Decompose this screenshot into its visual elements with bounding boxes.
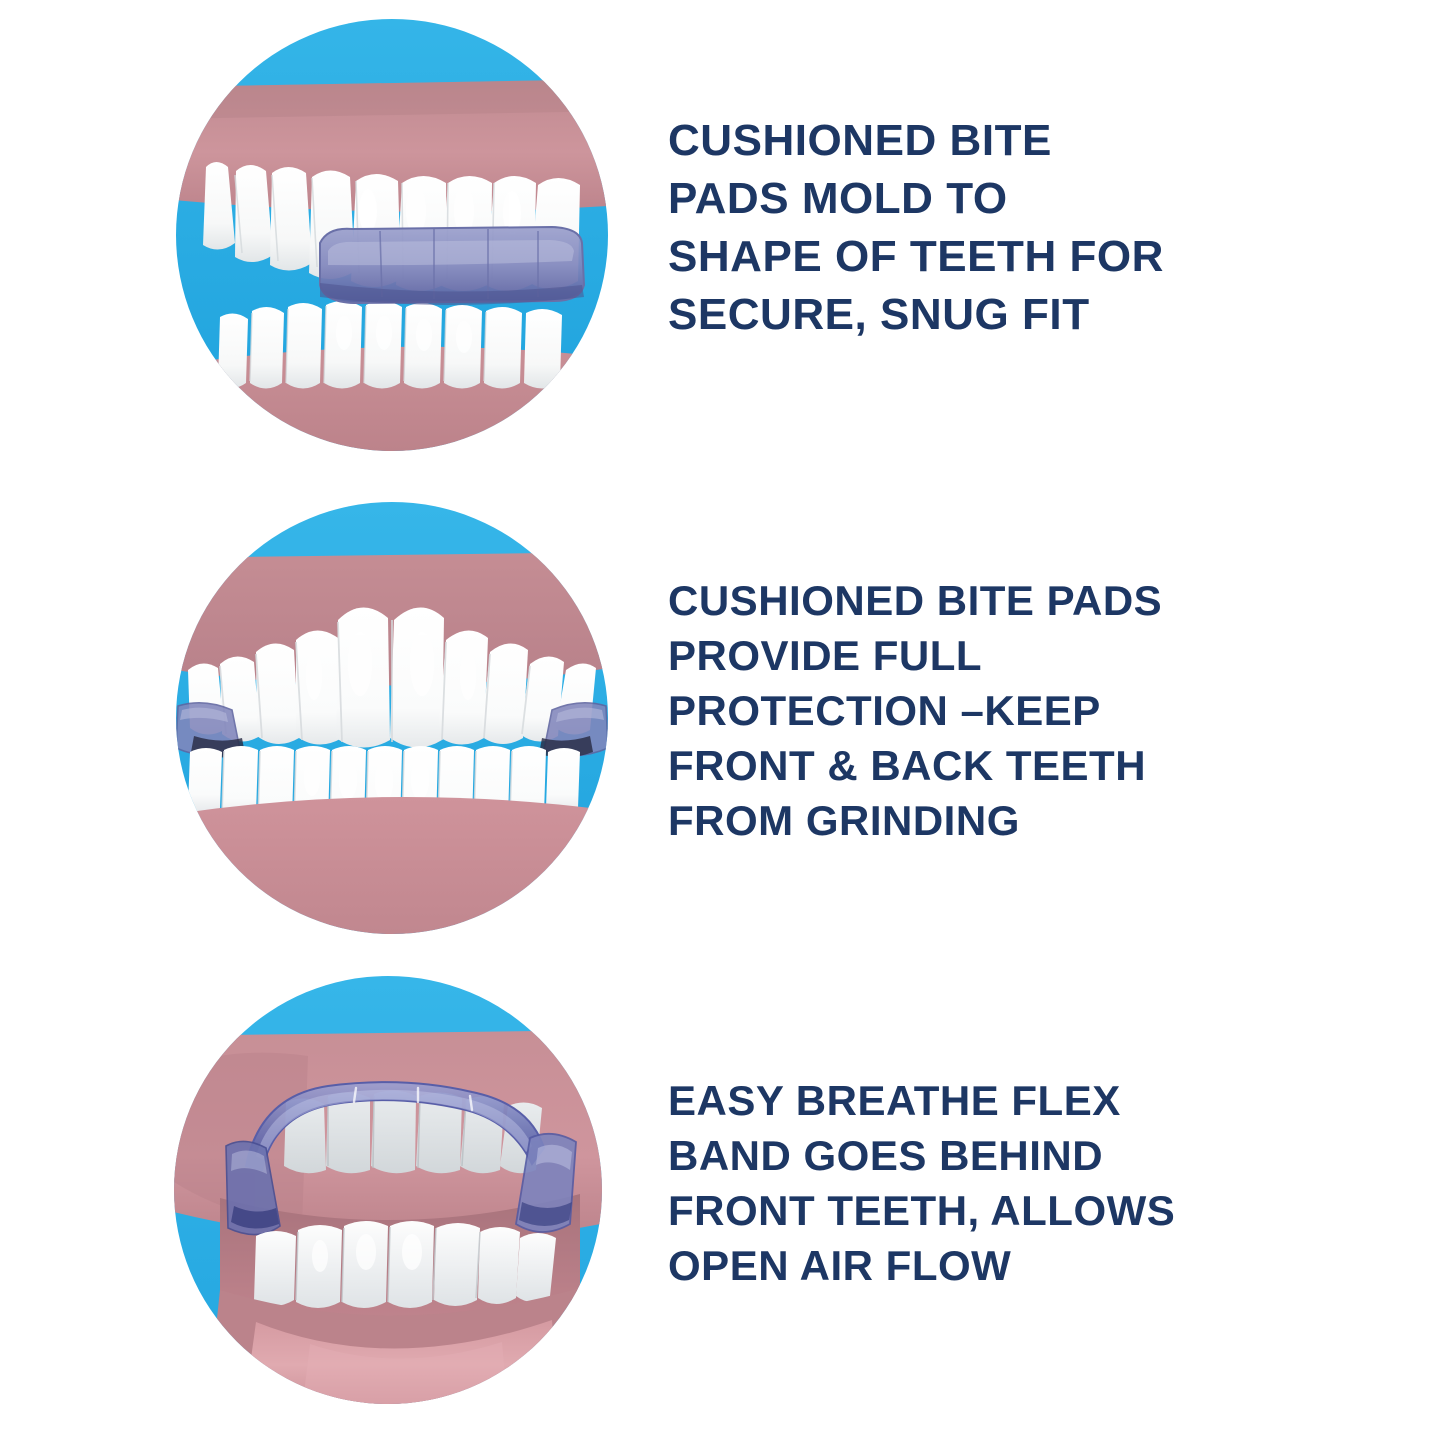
infographic-page: CUSHIONED BITE PADS MOLD TO SHAPE OF TEE… <box>0 0 1445 1445</box>
caption-line: SHAPE OF TEETH FOR <box>668 235 1164 279</box>
caption-line: FRONT TEETH, ALLOWS <box>668 1190 1175 1232</box>
lower-teeth <box>218 301 562 389</box>
caption-line: PROTECTION –KEEP <box>668 690 1162 732</box>
caption-line: PADS MOLD TO <box>668 177 1164 221</box>
caption-line: FROM GRINDING <box>668 800 1162 842</box>
panel-3-caption: EASY BREATHE FLEX BAND GOES BEHIND FRONT… <box>668 1080 1175 1300</box>
lower-gum <box>172 796 612 937</box>
panel-1-caption: CUSHIONED BITE PADS MOLD TO SHAPE OF TEE… <box>668 119 1164 351</box>
caption-line: OPEN AIR FLOW <box>668 1245 1175 1287</box>
panel-2-caption: CUSHIONED BITE PADS PROVIDE FULL PROTECT… <box>668 580 1162 855</box>
caption-line: PROVIDE FULL <box>668 635 1162 677</box>
teeth-side-view-illustration <box>172 15 612 455</box>
caption-line: CUSHIONED BITE PADS <box>668 580 1162 622</box>
feature-panel-1: CUSHIONED BITE PADS MOLD TO SHAPE OF TEE… <box>0 0 1445 470</box>
teeth-scene <box>160 1030 610 1410</box>
caption-line: BAND GOES BEHIND <box>668 1135 1175 1177</box>
teeth-inside-view-with-flex-band-figure <box>160 970 610 1410</box>
lower-teeth <box>254 1221 556 1308</box>
teeth-front-view-illustration <box>172 498 612 938</box>
caption-line: EASY BREATHE FLEX <box>668 1080 1175 1122</box>
caption-line: FRONT & BACK TEETH <box>668 745 1162 787</box>
caption-line: CUSHIONED BITE <box>668 119 1164 163</box>
teeth-inside-view-illustration <box>160 970 610 1410</box>
mouthguard-bite-pad <box>320 227 584 305</box>
teeth-side-view-with-mouthguard-figure <box>172 15 612 455</box>
feature-panel-2: CUSHIONED BITE PADS PROVIDE FULL PROTECT… <box>0 485 1445 950</box>
teeth-front-view-with-bite-pads-figure <box>172 498 612 938</box>
caption-line: SECURE, SNUG FIT <box>668 293 1164 337</box>
feature-panel-3: EASY BREATHE FLEX BAND GOES BEHIND FRONT… <box>0 955 1445 1425</box>
